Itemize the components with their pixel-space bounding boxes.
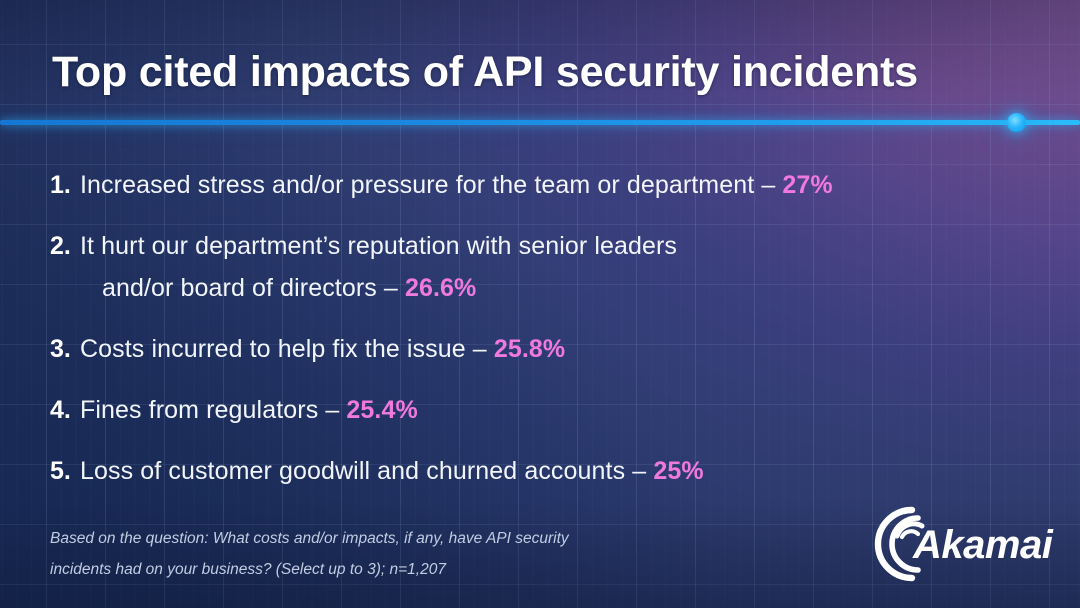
- list-item: 2. It hurt our department’s reputation w…: [50, 229, 1030, 305]
- list-item-value: 27%: [782, 171, 832, 199]
- list-item-dash: –: [377, 274, 405, 302]
- list-item: 1. Increased stress and/or pressure for …: [50, 168, 1030, 202]
- list-item-dash: –: [466, 335, 494, 363]
- list-item: 4. Fines from regulators – 25.4%: [50, 393, 1030, 427]
- accent-divider-line: [0, 120, 1080, 125]
- footnote-line-1: Based on the question: What costs and/or…: [50, 530, 569, 547]
- akamai-logo: Akamai: [866, 503, 1046, 583]
- list-item-text: Loss of customer goodwill and churned ac…: [80, 457, 625, 485]
- list-item-value: 25.4%: [346, 396, 417, 424]
- list-item: 3. Costs incurred to help fix the issue …: [50, 332, 1030, 366]
- list-item-value: 26.6%: [405, 274, 476, 302]
- footnote: Based on the question: What costs and/or…: [50, 523, 790, 585]
- list-item-body: Fines from regulators – 25.4%: [80, 393, 1030, 427]
- list-item-text: Fines from regulators: [80, 396, 318, 424]
- list-item-second-line-text: and/or board of directors: [102, 274, 377, 302]
- list-item-dash: –: [625, 457, 653, 485]
- footnote-line-2: incidents had on your business? (Select …: [50, 561, 446, 578]
- list-item-body: Costs incurred to help fix the issue – 2…: [80, 332, 1030, 366]
- accent-dot-icon: [1007, 113, 1026, 132]
- list-item-body: Loss of customer goodwill and churned ac…: [80, 454, 1030, 488]
- list-item: 5. Loss of customer goodwill and churned…: [50, 454, 1030, 488]
- list-item-number: 3.: [50, 332, 80, 366]
- list-item-text: Costs incurred to help fix the issue: [80, 335, 466, 363]
- list-item-body: Increased stress and/or pressure for the…: [80, 168, 1030, 202]
- list-item-dash: –: [318, 396, 346, 424]
- list-item-dash: –: [754, 171, 782, 199]
- list-item-number: 5.: [50, 454, 80, 488]
- impacts-list: 1. Increased stress and/or pressure for …: [50, 168, 1030, 488]
- list-item-value: 25.8%: [494, 335, 565, 363]
- list-item-text: It hurt our department’s reputation with…: [80, 232, 677, 260]
- list-item-body: It hurt our department’s reputation with…: [80, 229, 1030, 305]
- list-item-number: 2.: [50, 229, 80, 263]
- list-item-value: 25%: [653, 457, 703, 485]
- list-item-text: Increased stress and/or pressure for the…: [80, 171, 754, 199]
- slide-root: Top cited impacts of API security incide…: [0, 0, 1080, 608]
- akamai-wordmark: Akamai: [913, 523, 1052, 567]
- list-item-number: 1.: [50, 168, 80, 202]
- list-item-number: 4.: [50, 393, 80, 427]
- list-item-second-line: and/or board of directors – 26.6%: [80, 271, 1030, 305]
- page-title: Top cited impacts of API security incide…: [52, 48, 918, 97]
